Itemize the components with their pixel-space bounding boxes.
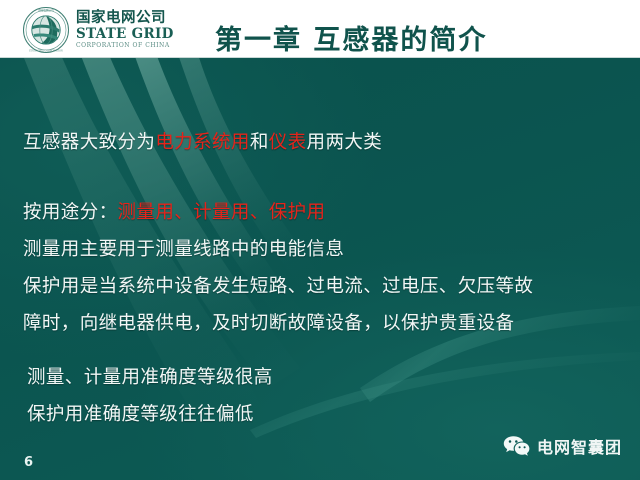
- slide-body: 互感器大致分为电力系统用和仪表用两大类 按用途分：测量用、计量用、保护用 测量用…: [0, 58, 640, 480]
- watermark-label: 电网智囊团: [537, 434, 622, 458]
- body-line-1-segment-1: 互感器大致分为: [23, 132, 155, 153]
- body-line-4-segment-1: 保护用是当系统中设备发生短路、过电流、过电压、欠压等故: [23, 276, 533, 297]
- state-grid-globe-logo-icon: 国家电网公司 STATE GRID CORPORATION: [22, 6, 70, 54]
- body-line-7: 保护用准确度等级往往偏低: [27, 400, 254, 426]
- slide-canvas: 国家电网公司 STATE GRID CORPORATION 国家电网公司 STA…: [0, 0, 640, 480]
- wechat-icon: [503, 435, 530, 457]
- body-line-6-segment-1: 测量、计量用准确度等级很高: [27, 367, 273, 388]
- logo-company-cn: 国家电网公司: [76, 11, 174, 26]
- body-line-2-segment-1: 按用途分：: [23, 202, 118, 223]
- body-line-1-segment-5: 用两大类: [307, 132, 383, 153]
- page-title: 第一章 互感器的简介: [215, 18, 487, 57]
- slide-header: 国家电网公司 STATE GRID CORPORATION 国家电网公司 STA…: [0, 0, 640, 58]
- body-line-1-segment-2: 电力系统用: [155, 132, 250, 153]
- body-line-1-segment-3: 和: [250, 132, 269, 153]
- body-line-3-segment-1: 测量用主要用于测量线路中的电能信息: [23, 239, 344, 260]
- body-line-1-segment-4: 仪表: [269, 132, 307, 153]
- state-grid-logo: 国家电网公司 STATE GRID CORPORATION 国家电网公司 STA…: [22, 5, 192, 55]
- body-line-7-segment-1: 保护用准确度等级往往偏低: [27, 404, 254, 425]
- body-line-2: 按用途分：测量用、计量用、保护用: [23, 198, 325, 224]
- body-line-4: 保护用是当系统中设备发生短路、过电流、过电压、欠压等故: [23, 272, 533, 298]
- watermark: 电网智囊团: [503, 434, 622, 458]
- body-line-5-segment-1: 障时，向继电器供电，及时切断故障设备，以保护贵重设备: [23, 313, 514, 334]
- body-line-6: 测量、计量用准确度等级很高: [27, 363, 273, 389]
- logo-company-en: STATE GRID: [76, 28, 174, 42]
- state-grid-logo-text: 国家电网公司 STATE GRID CORPORATION OF CHINA: [76, 11, 174, 49]
- body-line-3: 测量用主要用于测量线路中的电能信息: [23, 235, 344, 261]
- page-number: 6: [24, 455, 33, 470]
- body-line-5: 障时，向继电器供电，及时切断故障设备，以保护贵重设备: [23, 309, 514, 335]
- logo-company-subtitle: CORPORATION OF CHINA: [76, 43, 174, 49]
- svg-text:国家电网公司: 国家电网公司: [38, 8, 54, 12]
- header-divider: [0, 57, 640, 58]
- body-line-1: 互感器大致分为电力系统用和仪表用两大类: [23, 128, 382, 154]
- body-line-2-segment-2: 测量用、计量用、保护用: [118, 202, 326, 223]
- svg-text:STATE GRID CORPORATION: STATE GRID CORPORATION: [29, 50, 63, 53]
